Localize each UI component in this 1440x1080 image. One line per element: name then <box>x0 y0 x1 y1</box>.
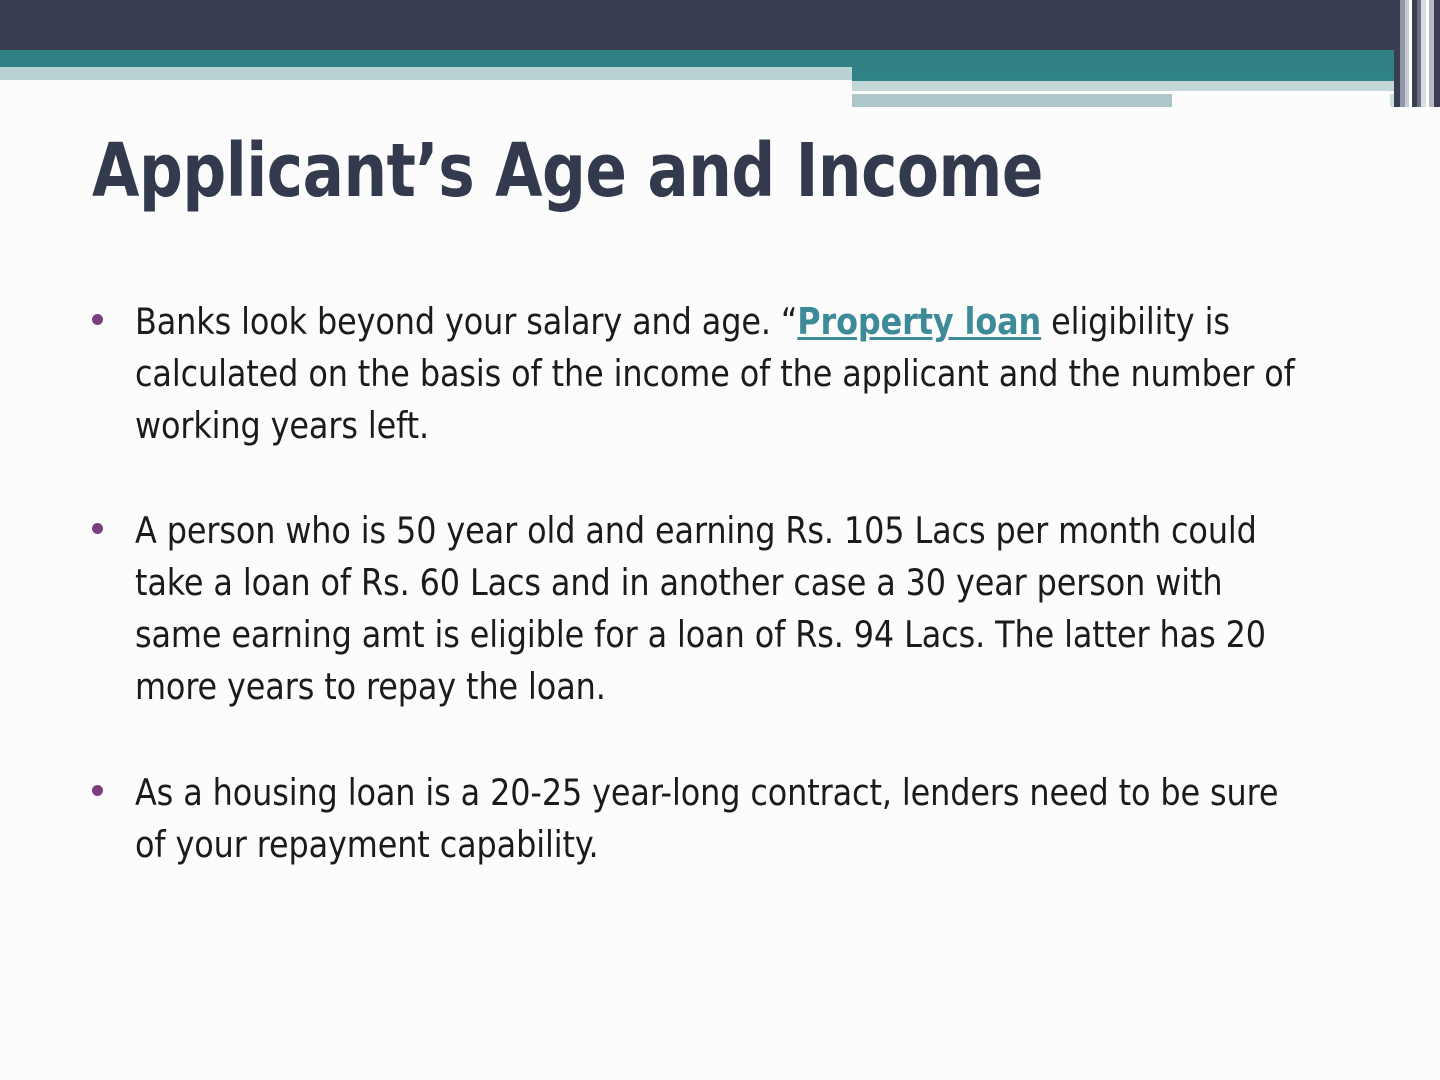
property-loan-link[interactable]: Property loan <box>797 300 1041 343</box>
header-band-light-1 <box>0 67 852 80</box>
bullet-1-pre-text: Banks look beyond your salary and age. “ <box>135 300 797 343</box>
header-vertical-stripes <box>1394 0 1440 107</box>
bullet-dot-icon <box>92 523 103 534</box>
header-band-teal-right <box>852 67 1440 81</box>
header-band-light-2 <box>852 81 1440 91</box>
bullet-dot-icon <box>92 785 103 796</box>
bullet-text-2: A person who is 50 year old and earning … <box>135 505 1315 712</box>
header-band-navy <box>0 0 1440 50</box>
list-item: Banks look beyond your salary and age. “… <box>92 296 1352 451</box>
header-band-light-3 <box>852 94 1172 107</box>
bullet-list: Banks look beyond your salary and age. “… <box>92 296 1352 870</box>
bullet-dot-icon <box>92 314 103 325</box>
bullet-text-1: Banks look beyond your salary and age. “… <box>135 296 1315 451</box>
header-gap-1 <box>0 80 852 84</box>
list-item: A person who is 50 year old and earning … <box>92 505 1352 712</box>
list-item: As a housing loan is a 20-25 year-long c… <box>92 767 1352 871</box>
bullet-text-3: As a housing loan is a 20-25 year-long c… <box>135 767 1315 871</box>
header-band-teal <box>0 50 1440 67</box>
page-title: Applicant’s Age and Income <box>92 134 1251 208</box>
presentation-slide: Applicant’s Age and Income Banks look be… <box>0 0 1440 1080</box>
